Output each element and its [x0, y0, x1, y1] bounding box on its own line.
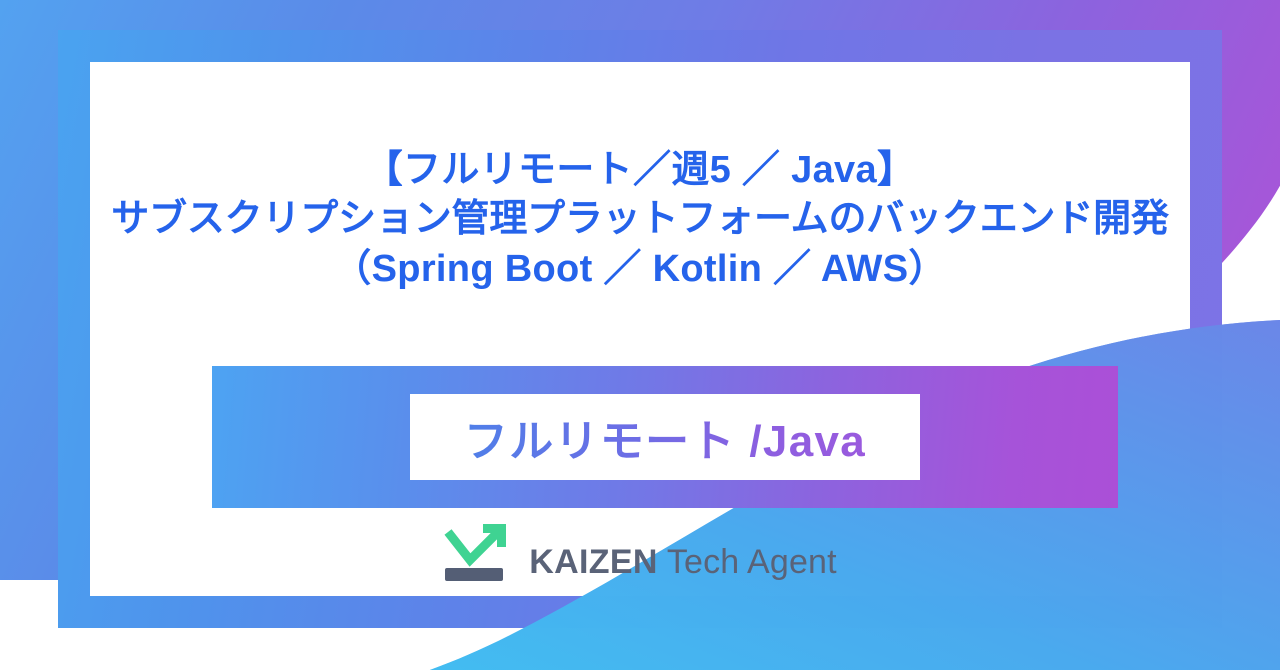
logo-brand: KAIZEN [529, 543, 658, 581]
badge-inner-box: フルリモート /Java [410, 394, 920, 480]
title-line-3: （Spring Boot ／ Kotlin ／ AWS） [0, 245, 1280, 294]
kaizen-logo: KAIZEN Tech Agent [0, 518, 1280, 584]
logo-suffix: Tech Agent [658, 543, 837, 581]
banner-content: 【フルリモート／週5 ／ Java】 サブスクリプション管理プラットフォームのバ… [0, 0, 1280, 670]
title-line-1: 【フルリモート／週5 ／ Java】 [0, 146, 1280, 195]
logo-wordmark: KAIZEN Tech Agent [529, 543, 837, 584]
page-title: 【フルリモート／週5 ／ Java】 サブスクリプション管理プラットフォームのバ… [0, 146, 1280, 294]
growth-arrow-icon [443, 518, 515, 584]
title-line-2: サブスクリプション管理プラットフォームのバックエンド開発 [0, 195, 1280, 244]
banner-canvas: 【フルリモート／週5 ／ Java】 サブスクリプション管理プラットフォームのバ… [0, 0, 1280, 670]
badge-bar: フルリモート /Java [212, 366, 1118, 508]
badge-label: フルリモート /Java [464, 405, 866, 469]
